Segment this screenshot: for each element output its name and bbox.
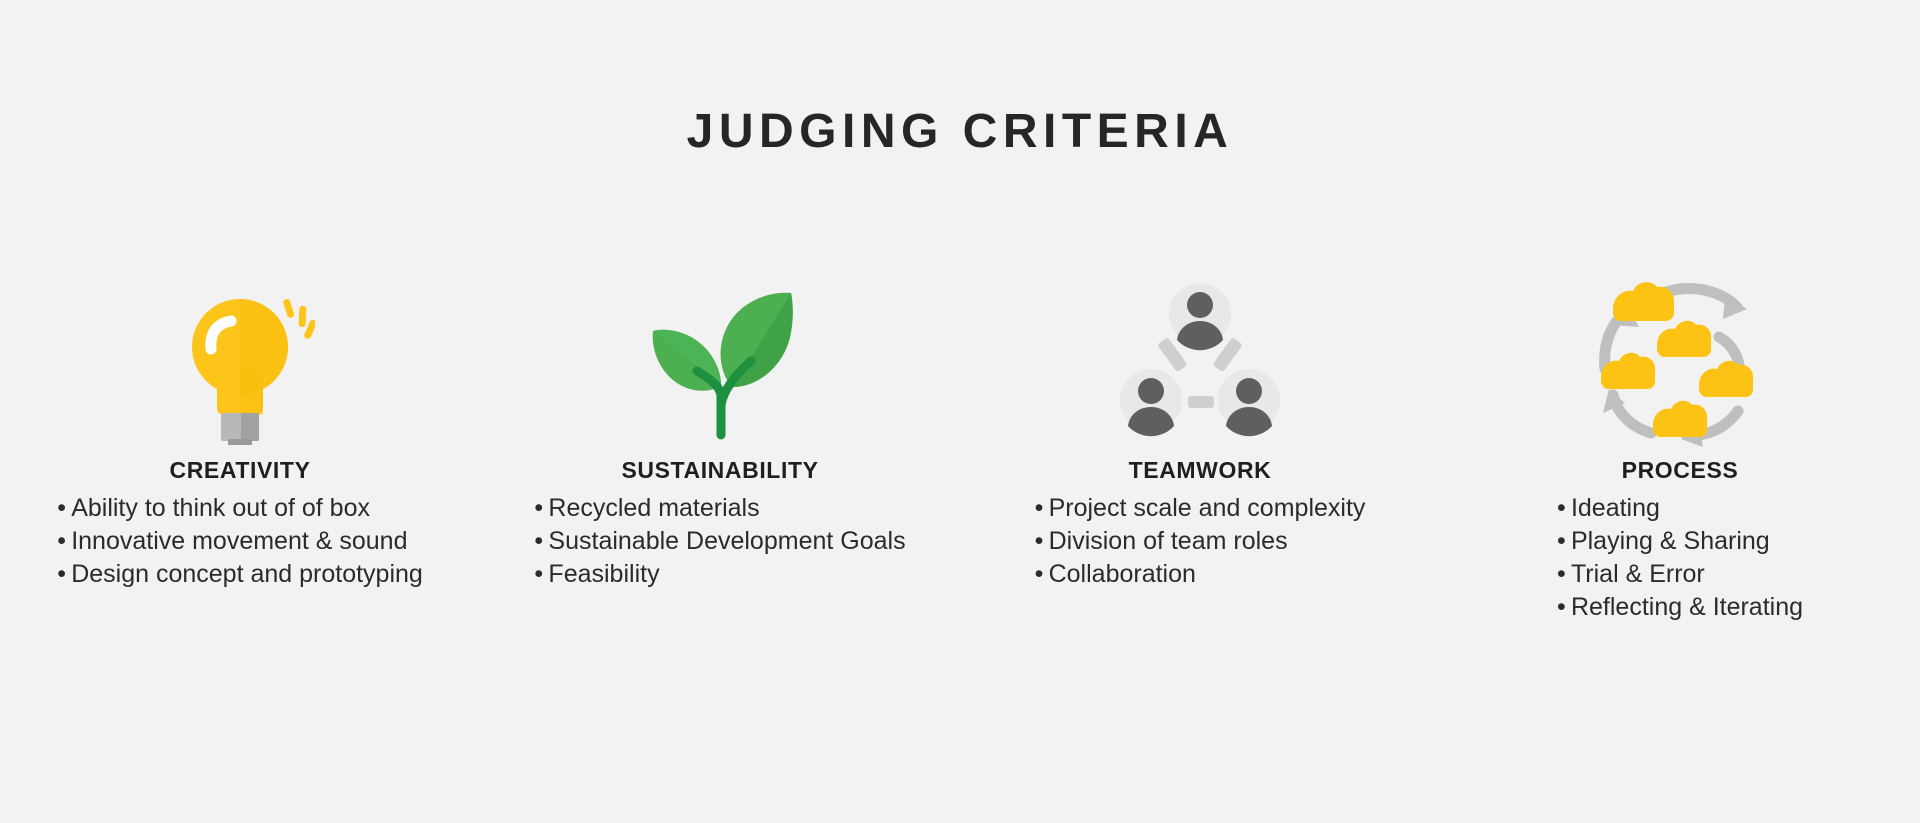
criteria-list: •Ideating •Playing & Sharing •Trial & Er…: [1557, 492, 1803, 624]
column-heading: PROCESS: [1622, 458, 1739, 483]
list-item-label: Collaboration: [1049, 560, 1196, 588]
list-item-label: Feasibility: [548, 560, 659, 588]
team-network-icon: [1120, 270, 1280, 450]
list-item-label: Innovative movement & sound: [71, 527, 407, 555]
list-item-label: Reflecting & Iterating: [1571, 593, 1803, 621]
criteria-list: •Recycled materials •Sustainable Develop…: [534, 492, 905, 591]
list-item-label: Recycled materials: [548, 494, 759, 522]
criteria-list: •Ability to think out of of box •Innovat…: [57, 492, 423, 591]
bullet-icon: •: [57, 492, 71, 525]
bullet-icon: •: [534, 492, 548, 525]
list-item: •Project scale and complexity: [1035, 492, 1366, 525]
criteria-column-creativity: CREATIVITY •Ability to think out of of b…: [0, 270, 480, 591]
list-item: •Ideating: [1557, 492, 1803, 525]
list-item-label: Ideating: [1571, 494, 1660, 522]
column-heading: SUSTAINABILITY: [621, 458, 818, 483]
list-item: •Feasibility: [534, 558, 905, 591]
bullet-icon: •: [57, 558, 71, 591]
bullet-icon: •: [1035, 525, 1049, 558]
list-item: •Ability to think out of of box: [57, 492, 423, 525]
bullet-icon: •: [534, 558, 548, 591]
lightbulb-icon: [165, 270, 315, 450]
list-item: •Design concept and prototyping: [57, 558, 423, 591]
list-item-label: Sustainable Development Goals: [548, 527, 905, 555]
list-item: •Reflecting & Iterating: [1557, 591, 1803, 624]
bullet-icon: •: [1035, 558, 1049, 591]
criteria-columns: CREATIVITY •Ability to think out of of b…: [0, 270, 1920, 624]
criteria-list: •Project scale and complexity •Division …: [1035, 492, 1366, 591]
column-heading: TEAMWORK: [1129, 458, 1272, 483]
bullet-icon: •: [1557, 558, 1571, 591]
leaf-plant-icon: [635, 270, 805, 450]
list-item-label: Design concept and prototyping: [71, 560, 423, 588]
list-item-label: Trial & Error: [1571, 560, 1705, 588]
bullet-icon: •: [57, 525, 71, 558]
list-item: •Playing & Sharing: [1557, 525, 1803, 558]
criteria-column-sustainability: SUSTAINABILITY •Recycled materials •Sust…: [480, 270, 960, 591]
criteria-column-process: PROCESS •Ideating •Playing & Sharing •Tr…: [1440, 270, 1920, 624]
list-item: •Collaboration: [1035, 558, 1366, 591]
list-item: •Innovative movement & sound: [57, 525, 423, 558]
list-item: •Recycled materials: [534, 492, 905, 525]
list-item: •Trial & Error: [1557, 558, 1803, 591]
bullet-icon: •: [1557, 591, 1571, 624]
list-item: •Division of team roles: [1035, 525, 1366, 558]
bullet-icon: •: [1557, 492, 1571, 525]
list-item-label: Project scale and complexity: [1049, 494, 1366, 522]
cloud-cycle-icon: [1595, 270, 1765, 450]
bullet-icon: •: [1035, 492, 1049, 525]
bullet-icon: •: [534, 525, 548, 558]
slide-root: JUDGING CRITERIA: [0, 0, 1920, 823]
bullet-icon: •: [1557, 525, 1571, 558]
list-item-label: Playing & Sharing: [1571, 527, 1770, 555]
column-heading: CREATIVITY: [169, 458, 310, 483]
list-item: •Sustainable Development Goals: [534, 525, 905, 558]
criteria-column-teamwork: TEAMWORK •Project scale and complexity •…: [960, 270, 1440, 591]
page-title: JUDGING CRITERIA: [0, 108, 1920, 156]
list-item-label: Ability to think out of of box: [71, 494, 370, 522]
list-item-label: Division of team roles: [1049, 527, 1288, 555]
